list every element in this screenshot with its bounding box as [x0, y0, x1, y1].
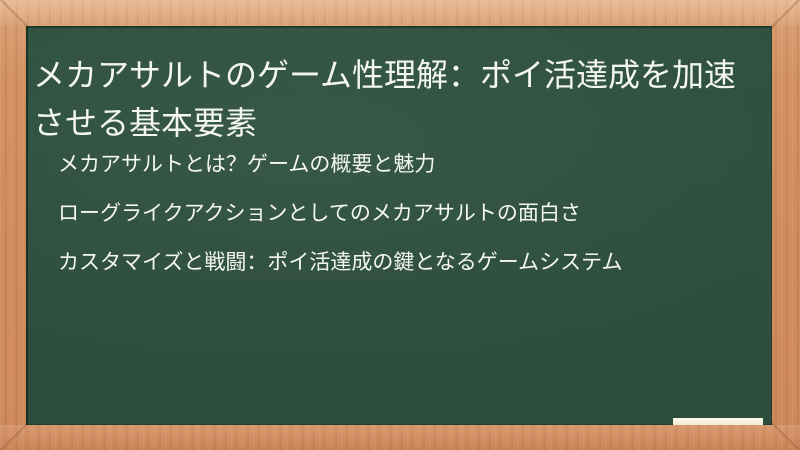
table-of-contents: メカアサルトとは？ゲームの概要と魅力 ローグライクアクションとしてのメカアサルト… — [58, 149, 748, 278]
frame-top-rail — [0, 0, 800, 26]
chalkboard-frame: メカアサルトのゲーム性理解：ポイ活達成を加速させる基本要素 メカアサルトとは？ゲ… — [0, 0, 800, 450]
list-item[interactable]: メカアサルトとは？ゲームの概要と魅力 — [58, 149, 748, 180]
page-title: メカアサルトのゲーム性理解：ポイ活達成を加速させる基本要素 — [33, 51, 749, 147]
board-surface: メカアサルトのゲーム性理解：ポイ活達成を加速させる基本要素 メカアサルトとは？ゲ… — [26, 26, 772, 425]
list-item[interactable]: ローグライクアクションとしてのメカアサルトの面白さ — [58, 198, 748, 229]
chalk-stick-icon — [673, 418, 763, 425]
list-item[interactable]: カスタマイズと戦闘：ポイ活達成の鍵となるゲームシステム — [58, 247, 748, 278]
frame-bottom-rail — [0, 425, 800, 450]
